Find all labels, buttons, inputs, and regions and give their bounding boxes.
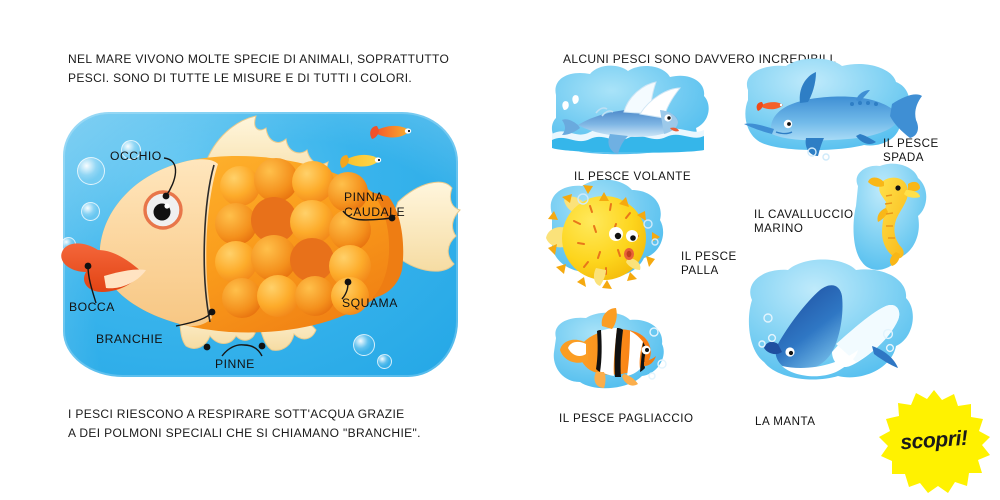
left-intro-text: NEL MARE VIVONO MOLTE SPECIE DI ANIMALI,… xyxy=(68,50,456,88)
right-intro-text: ALCUNI PESCI SONO DAVVERO INCREDIBILI. xyxy=(563,50,951,69)
bubble-icon xyxy=(61,237,76,252)
panel-manta xyxy=(749,260,913,380)
scopri-badge[interactable]: scopri! xyxy=(878,388,990,494)
book-spread: NEL MARE VIVONO MOLTE SPECIE DI ANIMALI,… xyxy=(0,0,1000,500)
bubble-icon xyxy=(377,354,392,369)
diagram-label-pinna-caudale: PINNA CAUDALE xyxy=(344,190,405,220)
diagram-label-occhio: OCCHIO xyxy=(110,149,162,164)
panel-pesce-volante xyxy=(552,66,709,155)
bubble-icon xyxy=(77,157,105,185)
caption-cavalluccio-marino: IL CAVALLUCCIO MARINO xyxy=(754,208,854,236)
caption-pesce-volante: IL PESCE VOLANTE xyxy=(574,170,691,184)
diagram-label-branchie: BRANCHIE xyxy=(96,332,163,347)
panel-cavalluccio-marino xyxy=(854,164,927,270)
caption-pesce-pagliaccio: IL PESCE PAGLIACCIO xyxy=(559,412,694,426)
diagram-label-squama: SQUAMA xyxy=(342,296,398,311)
caption-pesce-spada: IL PESCE SPADA xyxy=(883,137,939,165)
caption-pesce-palla: IL PESCE PALLA xyxy=(681,250,737,278)
bubble-icon xyxy=(81,202,100,221)
diagram-label-bocca: BOCCA xyxy=(69,300,115,315)
left-footer-text: I PESCI RIESCONO A RESPIRARE SOTT'ACQUA … xyxy=(68,405,466,443)
caption-manta: LA MANTA xyxy=(755,415,815,429)
panel-pesce-pagliaccio xyxy=(554,308,666,388)
scopri-label: scopri! xyxy=(874,384,993,498)
bubble-icon xyxy=(353,334,375,356)
diagram-label-pinne: PINNE xyxy=(215,357,255,372)
panel-pesce-palla xyxy=(546,180,663,289)
